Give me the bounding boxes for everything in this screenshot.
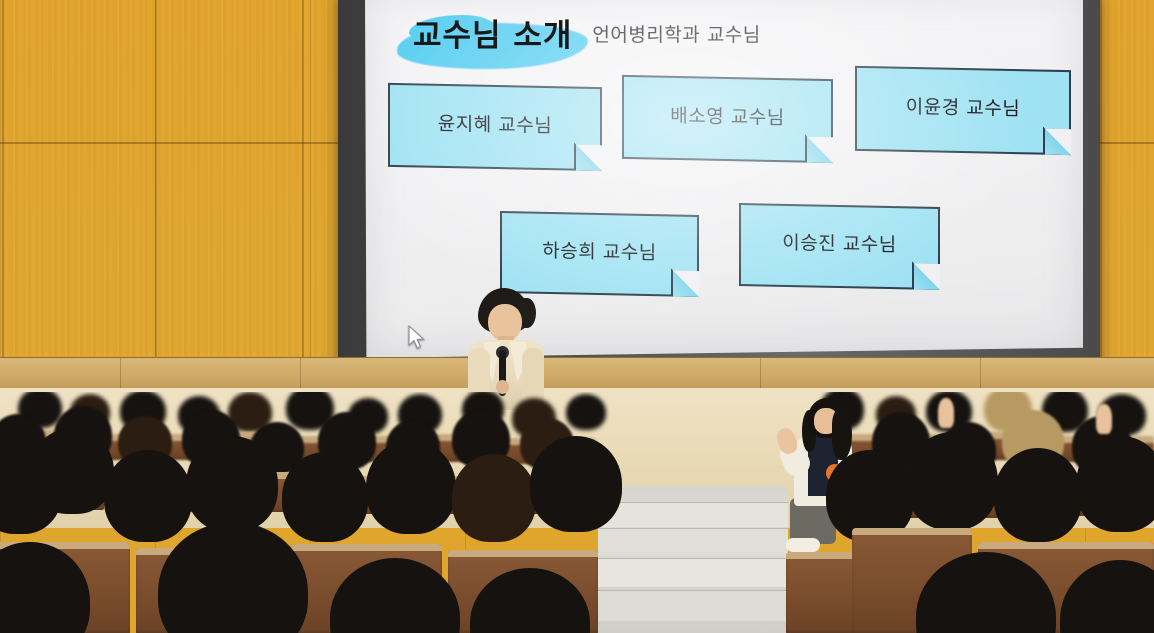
raised-hand <box>1096 404 1112 434</box>
audience-seating <box>0 392 1154 633</box>
professor-card: 배소영 교수님 <box>622 75 833 163</box>
stage-back-wall-band <box>0 357 1154 391</box>
professor-card: 이윤경 교수님 <box>855 66 1071 155</box>
professor-name: 윤지혜 교수님 <box>438 108 552 137</box>
professor-card: 윤지혜 교수님 <box>388 83 602 171</box>
wall-seam-vertical <box>1100 0 1102 392</box>
professor-card: 하승희 교수님 <box>500 211 699 297</box>
professor-name: 하승희 교수님 <box>542 235 656 264</box>
wall-seam-vertical <box>155 0 157 392</box>
lecture-hall-photo: 교수님 소개 언어병리학과 교수님 윤지혜 교수님 배소영 교수님 이윤경 교수… <box>0 0 1154 633</box>
presenter-figure <box>452 288 558 406</box>
professor-card: 이승진 교수님 <box>739 203 940 290</box>
professor-name: 이윤경 교수님 <box>906 92 1020 121</box>
wall-seam-vertical <box>2 0 4 392</box>
professor-name: 배소영 교수님 <box>670 100 784 129</box>
center-aisle <box>598 486 788 633</box>
professor-name: 이승진 교수님 <box>782 228 896 257</box>
wall-seam-vertical <box>302 0 304 392</box>
raised-hand <box>938 398 954 428</box>
slide-title: 교수님 소개 <box>413 18 572 54</box>
mouse-pointer-icon <box>408 325 426 351</box>
slide-title-highlight: 교수님 소개 <box>407 19 578 52</box>
